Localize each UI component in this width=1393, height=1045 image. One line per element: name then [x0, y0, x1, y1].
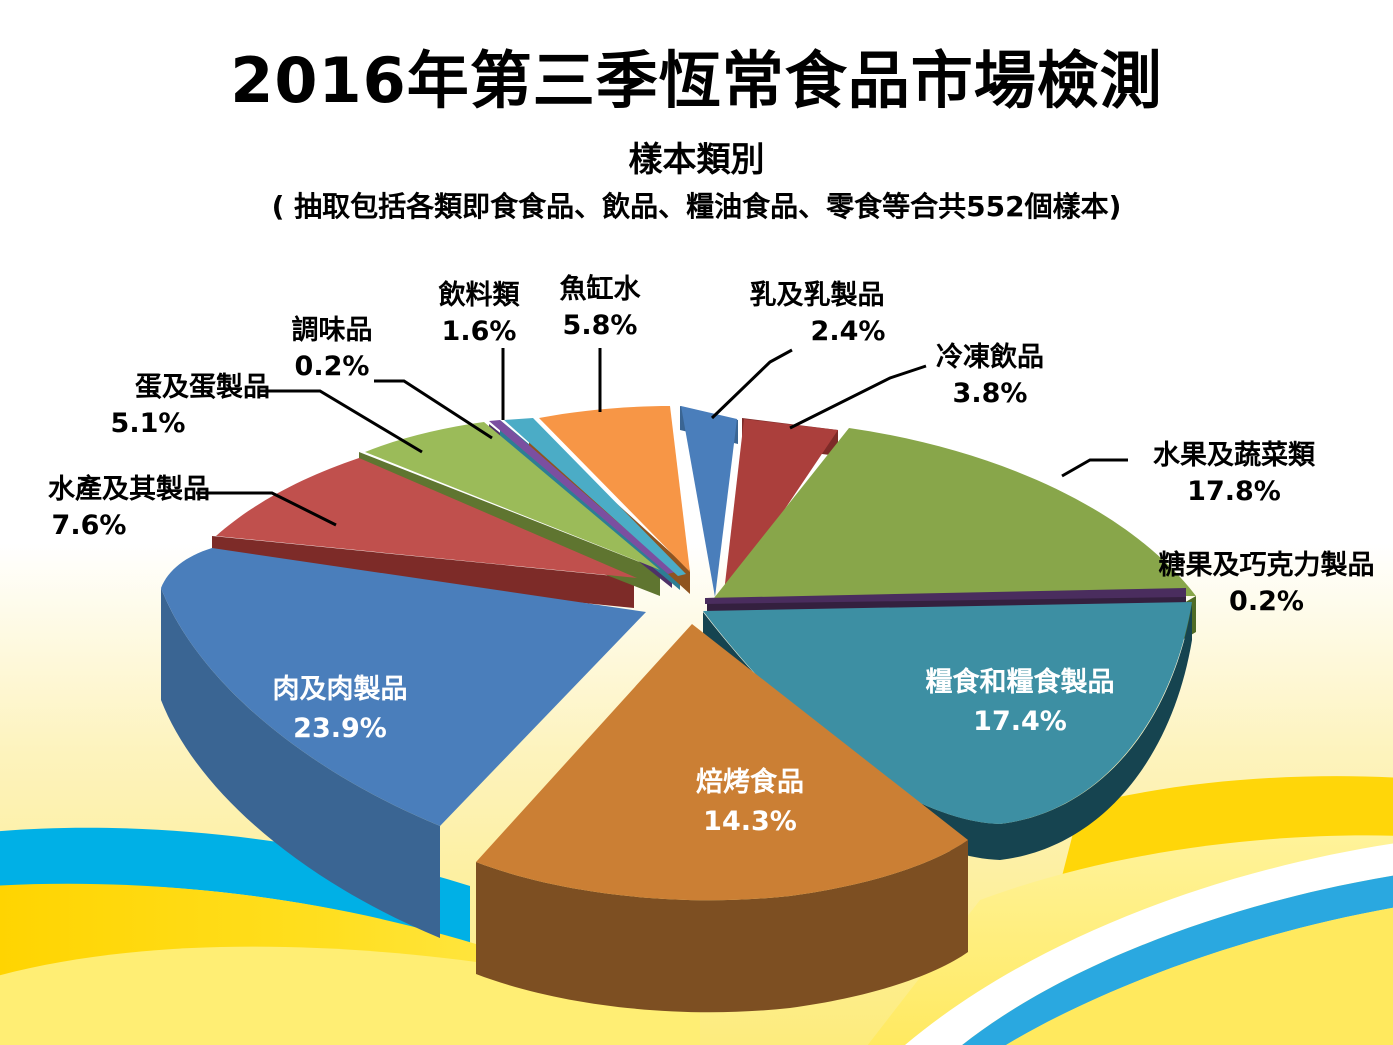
- label-tankwater: 魚缸水 5.8%: [534, 272, 666, 343]
- label-fruitveg-name: 水果及蔬菜類: [1153, 440, 1315, 471]
- label-candy: 糖果及巧克力製品 0.2%: [1140, 548, 1393, 619]
- label-aquatic-pct: 7.6%: [10, 508, 210, 544]
- label-egg-pct: 5.1%: [70, 406, 270, 442]
- leader-line-fruitveg: [1062, 460, 1128, 476]
- label-dairy: 乳及乳製品 2.4%: [722, 278, 912, 349]
- label-candy-pct: 0.2%: [1140, 584, 1393, 620]
- label-bakery-name: 焙烤食品: [696, 767, 804, 798]
- label-seasoning-pct: 0.2%: [272, 349, 392, 385]
- label-fruitveg-pct: 17.8%: [1134, 474, 1334, 510]
- label-frozen-name: 冷凍飲品: [936, 342, 1044, 373]
- label-beverage-pct: 1.6%: [414, 314, 544, 350]
- page-subtitle: 樣本類別: [0, 132, 1393, 181]
- leader-line-dairy: [712, 350, 792, 418]
- page-note: ( 抽取包括各類即食食品、飲品、糧油食品、零食等合共552個樣本): [0, 185, 1393, 225]
- label-dairy-pct: 2.4%: [722, 314, 912, 350]
- label-meat-pct: 23.9%: [210, 709, 470, 748]
- label-meat: 肉及肉製品 23.9%: [210, 670, 470, 748]
- label-seasoning-name: 調味品: [292, 315, 373, 346]
- label-tankwater-pct: 5.8%: [534, 308, 666, 344]
- label-grain-pct: 17.4%: [890, 702, 1150, 741]
- label-aquatic-name: 水產及其製品: [48, 474, 210, 505]
- label-grain-name: 糧食和糧食製品: [926, 667, 1115, 698]
- label-grain: 糧食和糧食製品 17.4%: [890, 663, 1150, 741]
- page-title: 2016年第三季恆常食品市場檢測: [0, 48, 1393, 113]
- label-beverage: 飲料類 1.6%: [414, 278, 544, 349]
- slide-canvas: 2016年第三季恆常食品市場檢測 樣本類別 ( 抽取包括各類即食食品、飲品、糧油…: [0, 0, 1393, 1045]
- label-egg: 蛋及蛋製品 5.1%: [70, 370, 270, 441]
- label-bakery-pct: 14.3%: [620, 802, 880, 841]
- label-meat-name: 肉及肉製品: [273, 674, 408, 705]
- label-fruitveg: 水果及蔬菜類 17.8%: [1134, 438, 1334, 509]
- label-tankwater-name: 魚缸水: [560, 274, 641, 305]
- label-egg-name: 蛋及蛋製品: [135, 372, 270, 403]
- label-dairy-name: 乳及乳製品: [750, 280, 885, 311]
- label-aquatic: 水產及其製品 7.6%: [10, 472, 210, 543]
- label-frozen: 冷凍飲品 3.8%: [905, 340, 1075, 411]
- label-beverage-name: 飲料類: [439, 280, 520, 311]
- label-seasoning: 調味品 0.2%: [272, 313, 392, 384]
- label-frozen-pct: 3.8%: [905, 376, 1075, 412]
- label-bakery: 焙烤食品 14.3%: [620, 763, 880, 841]
- label-candy-name: 糖果及巧克力製品: [1159, 550, 1375, 581]
